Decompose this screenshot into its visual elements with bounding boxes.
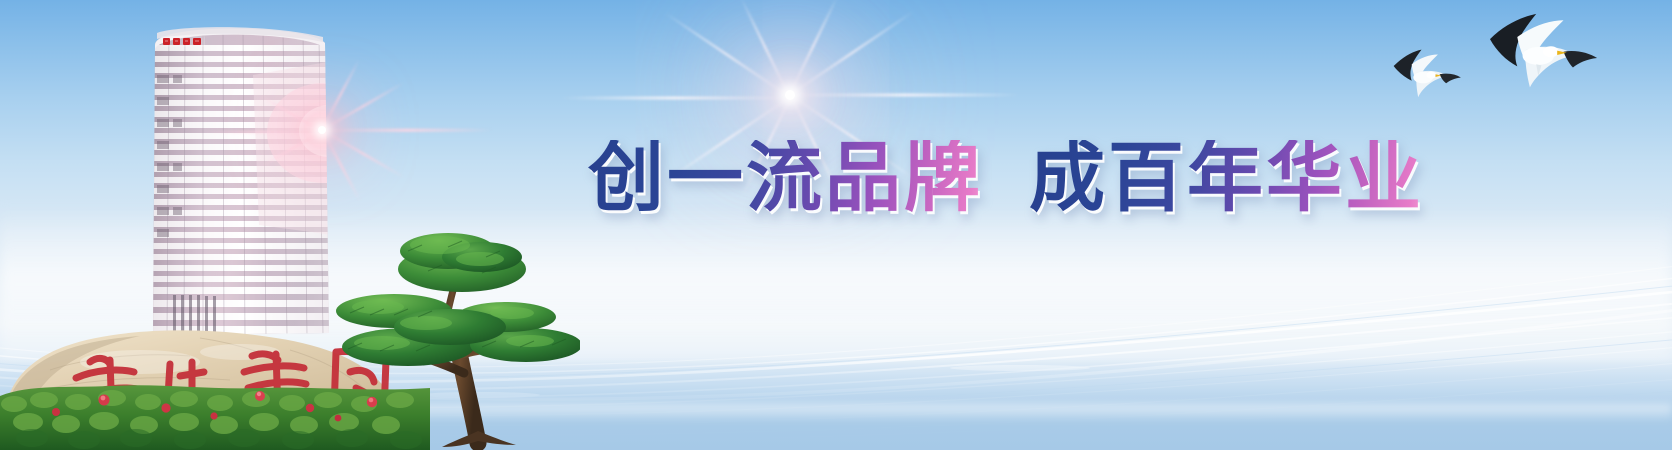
seagull-icon <box>1394 50 1461 98</box>
slogan-part-1: 创一流品牌 <box>588 140 983 216</box>
tower-rooftop-sign <box>161 36 205 47</box>
seagull-icon <box>1490 14 1597 87</box>
flower-hedge <box>0 378 430 450</box>
sun-core <box>785 90 795 100</box>
office-tower <box>133 15 348 345</box>
seagulls-group <box>1372 0 1672 140</box>
slogan-part-2: 成百年华业 <box>1029 140 1424 216</box>
hero-banner: 创一流品牌 成百年华业 <box>0 0 1672 450</box>
banner-slogan: 创一流品牌 成百年华业 <box>588 130 1424 226</box>
tower-flare-core <box>318 126 326 134</box>
